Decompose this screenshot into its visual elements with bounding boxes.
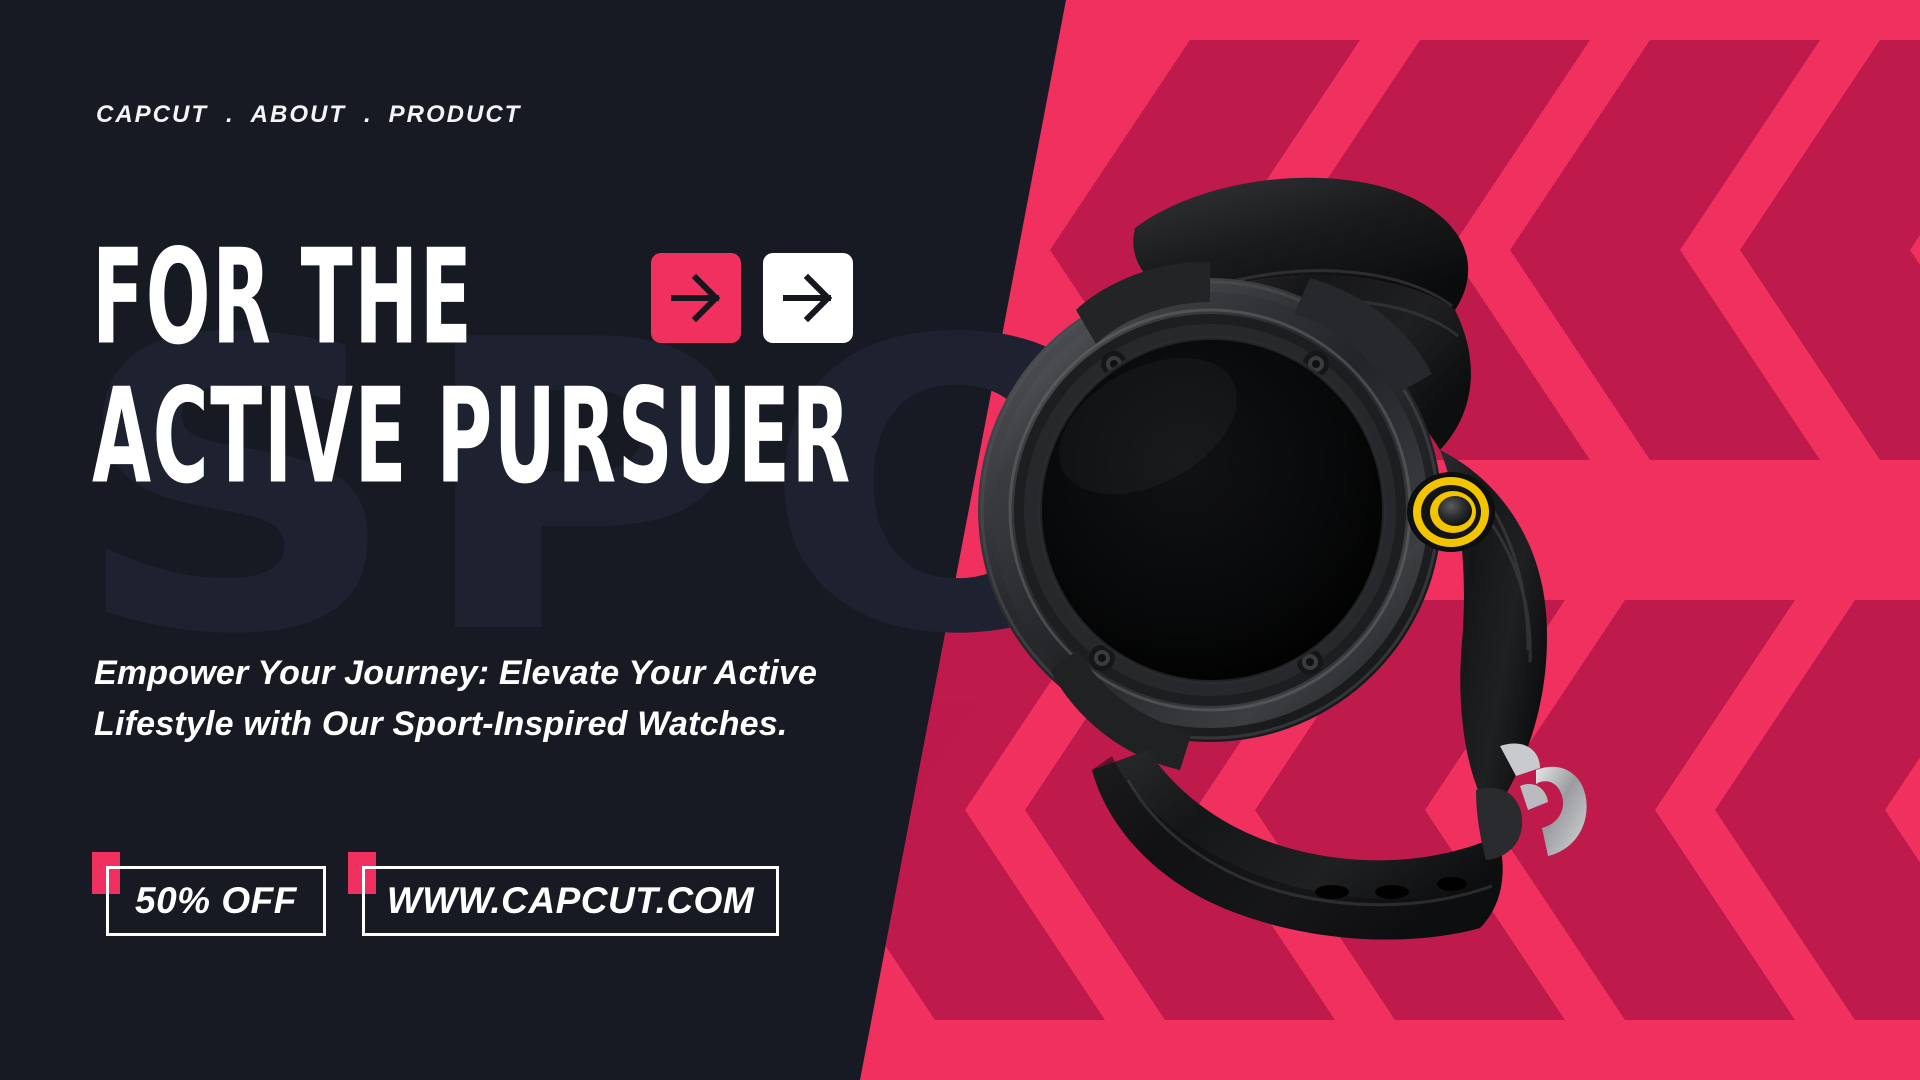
top-navigation[interactable]: CAPCUT . ABOUT . PRODUCT — [96, 101, 521, 129]
watch-crown-button — [1407, 472, 1495, 552]
discount-badge[interactable]: 50% OFF — [92, 866, 326, 936]
hero-subtitle: Empower Your Journey: Elevate Your Activ… — [94, 648, 814, 750]
website-label: WWW.CAPCUT.COM — [387, 880, 754, 922]
headline-line-1: FOR THE — [92, 233, 474, 363]
nav-item-capcut[interactable]: CAPCUT — [96, 101, 208, 129]
poster-canvas: SPO — [0, 0, 1920, 1080]
website-badge-frame[interactable]: WWW.CAPCUT.COM — [362, 866, 779, 936]
discount-badge-frame[interactable]: 50% OFF — [106, 866, 326, 936]
headline-row-1: FOR THE — [92, 246, 1042, 351]
arrow-button-secondary[interactable] — [763, 253, 853, 343]
nav-item-about[interactable]: ABOUT — [251, 101, 346, 129]
discount-label: 50% OFF — [135, 880, 297, 922]
arrow-right-icon — [668, 270, 724, 326]
website-badge[interactable]: WWW.CAPCUT.COM — [348, 866, 779, 936]
watch-buckle — [1520, 767, 1587, 856]
headline-line-2: ACTIVE PURSUER — [92, 372, 852, 502]
subtitle-line-2: Lifestyle with Our Sport-Inspired Watche… — [94, 699, 814, 750]
nav-separator: . — [346, 101, 389, 129]
nav-item-product[interactable]: PRODUCT — [389, 101, 522, 129]
subtitle-line-1: Empower Your Journey: Elevate Your Activ… — [94, 648, 814, 699]
nav-separator: . — [208, 101, 251, 129]
arrow-button-primary[interactable] — [651, 253, 741, 343]
arrow-button-group[interactable] — [651, 253, 853, 343]
arrow-right-icon — [780, 270, 836, 326]
cta-row: 50% OFF WWW.CAPCUT.COM — [92, 866, 779, 936]
hero-headline-block: FOR THE ACTIVE PURSUER — [92, 246, 1042, 490]
